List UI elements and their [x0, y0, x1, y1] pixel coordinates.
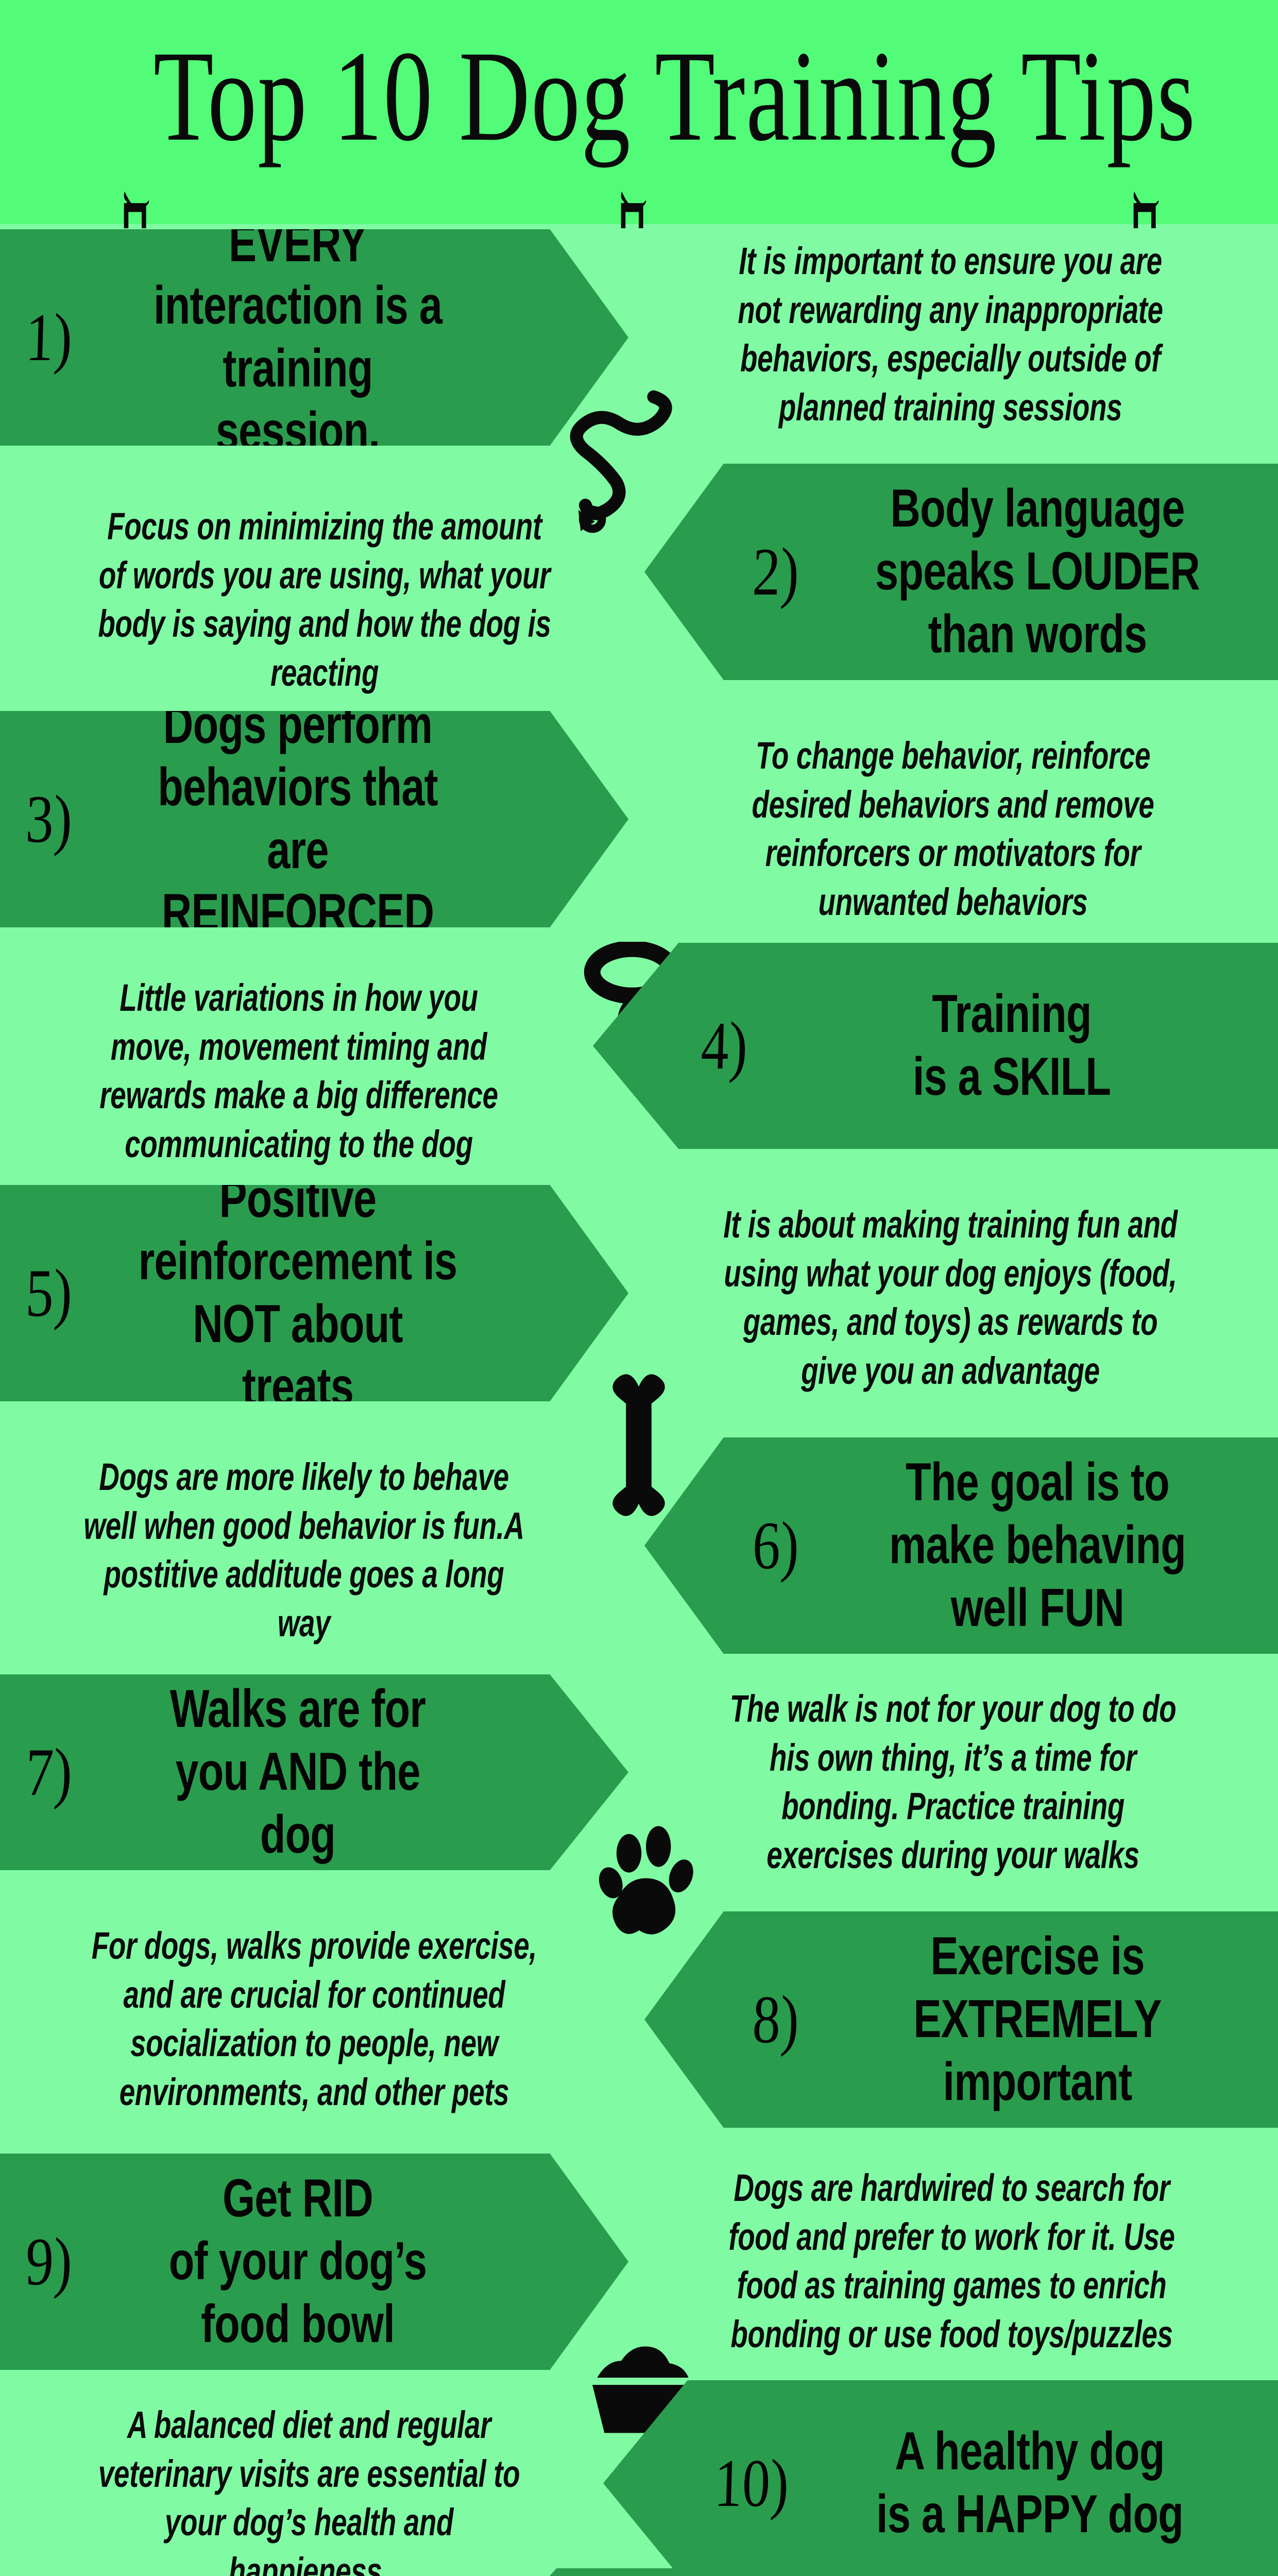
tip-headline-5: Positive reinforcement is NOT about trea…	[136, 1168, 459, 1419]
tip-description-9: Dogs are hardwired to search for food an…	[720, 2164, 1183, 2359]
tip-description-1: It is important to ensure you are not re…	[720, 237, 1181, 432]
dog-silhouette-icon	[610, 184, 657, 228]
tip-number-2: 2)	[752, 541, 800, 603]
tip-number-9: 9)	[25, 2231, 73, 2293]
tip-banner-4: 4) Training is a SKILL	[593, 943, 1278, 1149]
tip-banner-8: 8) Exercise is EXTREMELY important	[644, 1911, 1278, 2128]
tip-headline-4: Training is a SKILL	[820, 983, 1203, 1108]
tip-number-5: 5)	[25, 1263, 73, 1324]
tip-banner-6: 6) The goal is to make behaving well FUN	[644, 1437, 1278, 1654]
tip-description-8: For dogs, walks provide exercise, and ar…	[86, 1922, 543, 2117]
tip-headline-7: Walks are for you AND the dog	[136, 1678, 459, 1866]
tip-banner-7: 7) Walks are for you AND the dog	[0, 1674, 628, 1870]
tip-banner-10: 10) A healthy dog is a HAPPY dog	[603, 2380, 1278, 2576]
tip-headline-2: Body language speaks LOUDER than words	[866, 478, 1209, 666]
header: Top 10 Dog Training Tips	[0, 0, 1278, 224]
tip-description-3: To change behavior, reinforce desired be…	[724, 732, 1182, 927]
tip-number-7: 7)	[25, 1742, 73, 1803]
tip-banner-2: 2) Body language speaks LOUDER than word…	[644, 464, 1278, 680]
tip-description-6: Dogs are more likely to behave well when…	[83, 1453, 525, 1648]
tip-number-3: 3)	[25, 789, 73, 850]
tip-headline-6: The goal is to make behaving well FUN	[866, 1451, 1209, 1639]
tip-number-10: 10)	[713, 2453, 790, 2514]
dog-silhouette-icon	[1123, 184, 1169, 228]
tip-headline-9: Get RID of your dog’s food bowl	[136, 2167, 459, 2355]
page-title: Top 10 Dog Training Tips	[154, 31, 1125, 161]
footer: https://drsophiayin.com/blog/entry/dr-yi…	[0, 2568, 1278, 2576]
tip-banner-5: 5) Positive reinforcement is NOT about t…	[0, 1185, 628, 1401]
dog-silhouette-icon	[113, 184, 160, 228]
tip-headline-8: Exercise is EXTREMELY important	[866, 1925, 1209, 2113]
footer-band	[510, 2568, 1278, 2576]
tip-number-8: 8)	[752, 1989, 800, 2050]
tip-banner-1: 1) EVERY interaction is a training sessi…	[0, 229, 628, 446]
tip-number-1: 1)	[25, 307, 73, 368]
tip-number-6: 6)	[752, 1515, 800, 1577]
tip-headline-1: EVERY interaction is a training session.	[136, 212, 459, 463]
leash-icon	[561, 371, 680, 536]
paw-print-icon	[595, 1824, 708, 1937]
tip-description-5: It is about making training fun and usin…	[720, 1200, 1181, 1396]
tip-headline-3: Dogs perform behaviors that are REINFORC…	[136, 694, 459, 945]
tip-description-4: Little variations in how you move, movem…	[86, 974, 513, 1169]
tip-description-10: A balanced diet and regular veterinary v…	[84, 2401, 534, 2576]
tip-banner-3: 3) Dogs perform behaviors that are REINF…	[0, 711, 628, 927]
bone-icon	[605, 1365, 672, 1525]
tip-headline-10: A healthy dog is a HAPPY dog	[852, 2420, 1207, 2546]
tip-description-7: The walk is not for your dog to do his o…	[722, 1685, 1183, 1880]
tip-number-4: 4)	[700, 1015, 748, 1077]
tip-banner-9: 9) Get RID of your dog’s food bowl	[0, 2154, 628, 2370]
tip-description-2: Focus on minimizing the amount of words …	[96, 502, 553, 698]
